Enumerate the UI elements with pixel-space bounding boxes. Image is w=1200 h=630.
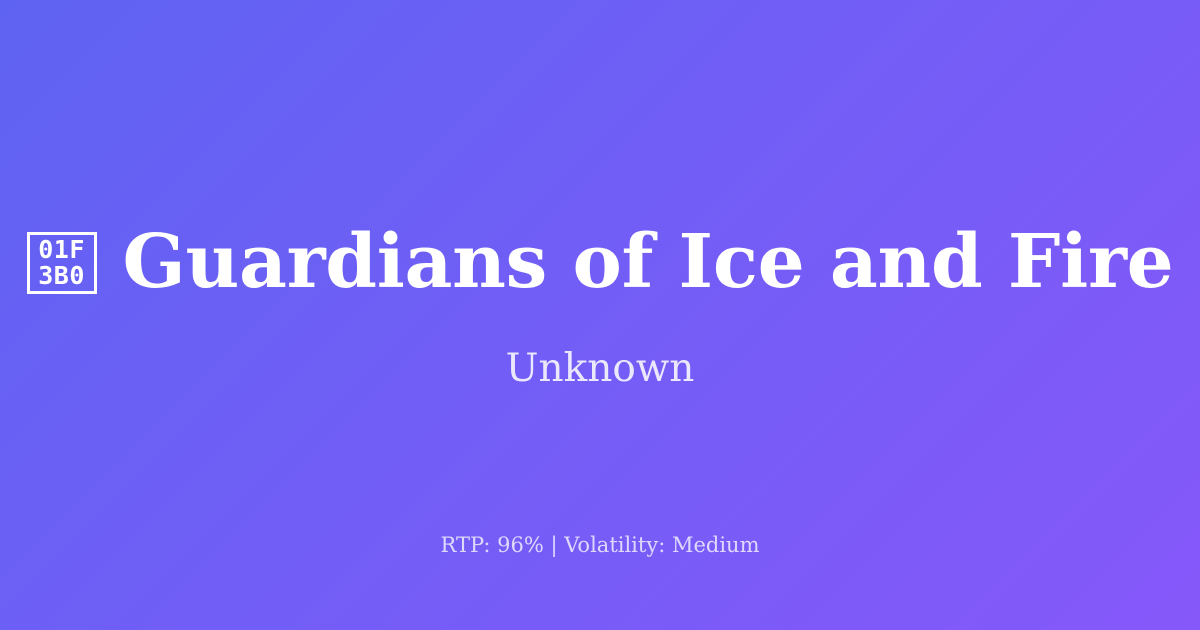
provider-label: Unknown bbox=[506, 348, 695, 391]
slot-machine-emoji-tofu-icon: 01F 3B0 bbox=[27, 232, 97, 294]
og-share-card: 01F 3B0 Guardians of Ice and Fire Unknow… bbox=[0, 0, 1200, 630]
page-title: Guardians of Ice and Fire bbox=[123, 225, 1174, 300]
tofu-codepoint-top: 01F bbox=[38, 237, 85, 263]
game-meta-line: RTP: 96% | Volatility: Medium bbox=[0, 533, 1200, 558]
tofu-codepoint-bottom: 3B0 bbox=[38, 263, 85, 289]
title-row: 01F 3B0 Guardians of Ice and Fire bbox=[0, 225, 1200, 300]
